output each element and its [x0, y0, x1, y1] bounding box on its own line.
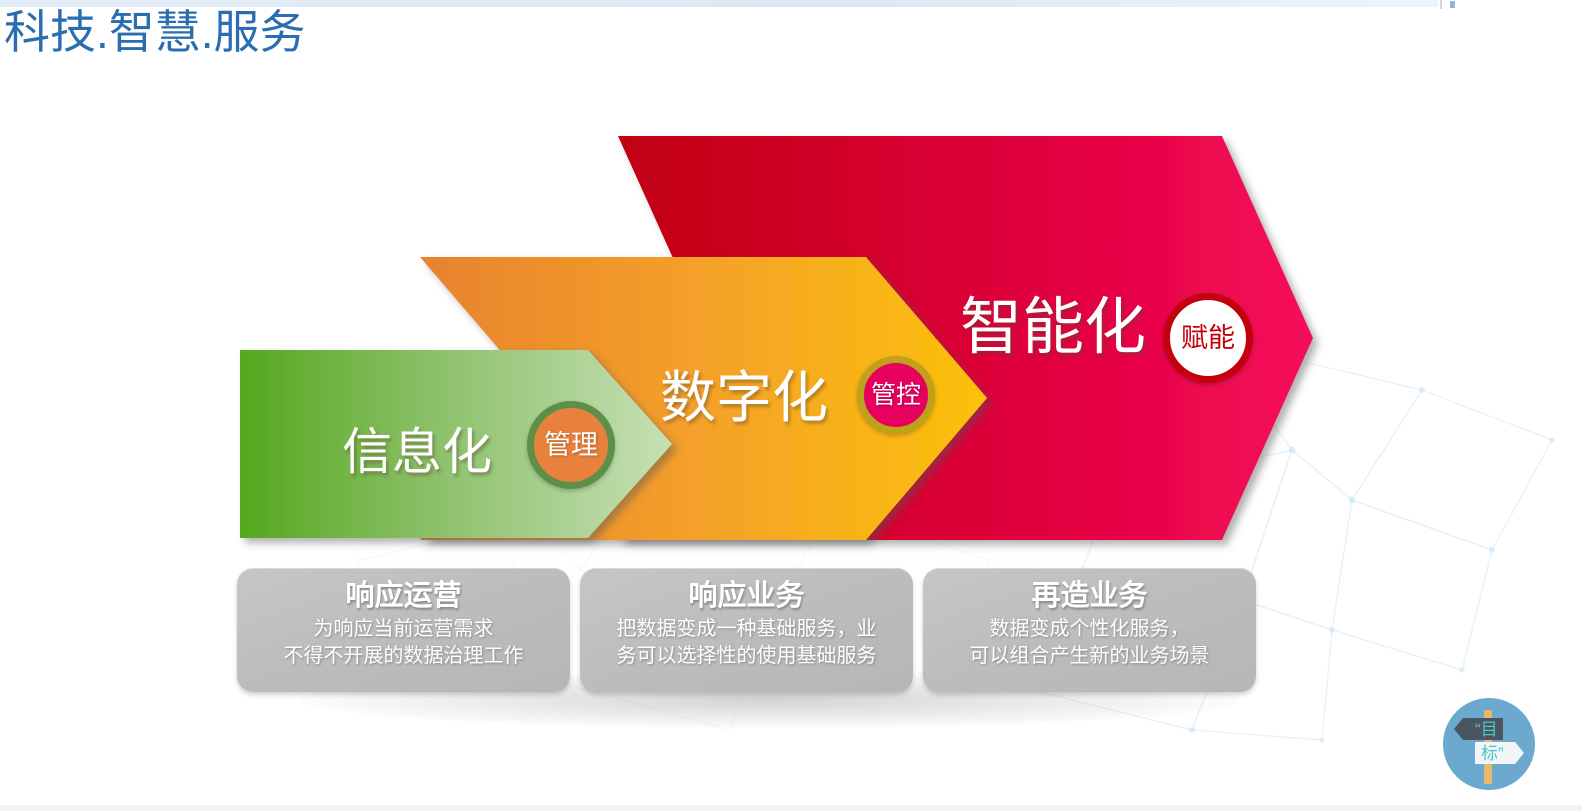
badge-empower-label: 赋能 [1181, 325, 1235, 352]
card-title: 再造业务 [1031, 578, 1147, 614]
card-description-line2: 务可以选择性的使用基础服务 [617, 643, 877, 670]
chevron-label-intelligentization: 智能化 [960, 298, 1146, 358]
card-respond-operations[interactable]: 响应运营 为响应当前运营需求 不得不开展的数据治理工作 [237, 568, 570, 692]
card-row: 响应运营 为响应当前运营需求 不得不开展的数据治理工作 响应业务 把数据变成一种… [237, 568, 1257, 692]
card-respond-business[interactable]: 响应业务 把数据变成一种基础服务，业 务可以选择性的使用基础服务 [580, 568, 913, 692]
slide-canvas: 科技.智慧.服务 [0, 0, 1582, 811]
card-description: 把数据变成一种基础服务，业 务可以选择性的使用基础服务 [617, 616, 877, 670]
card-title: 响应运营 [345, 578, 461, 614]
page-title: 科技.智慧.服务 [4, 6, 306, 58]
badge-control-label: 管控 [871, 383, 921, 408]
signpost-goal-icon[interactable]: “目 标” [1437, 692, 1541, 796]
card-description-line1: 把数据变成一种基础服务，业 [617, 616, 877, 643]
card-description: 数据变成个性化服务， 可以组合产生新的业务场景 [970, 616, 1210, 670]
top-band-dot [1450, 1, 1455, 8]
card-reinvent-business[interactable]: 再造业务 数据变成个性化服务， 可以组合产生新的业务场景 [923, 568, 1256, 692]
signpost-left-text: “目 [1475, 720, 1498, 739]
badge-empower[interactable]: 赋能 [1163, 293, 1253, 383]
card-description-line2: 不得不开展的数据治理工作 [284, 643, 524, 670]
card-description-line1: 数据变成个性化服务， [970, 616, 1210, 643]
badge-manage-label: 管理 [544, 432, 598, 459]
card-description-line1: 为响应当前运营需求 [284, 616, 524, 643]
card-description: 为响应当前运营需求 不得不开展的数据治理工作 [284, 616, 524, 670]
card-title: 响应业务 [688, 578, 804, 614]
top-band-tick [1440, 0, 1442, 9]
badge-manage[interactable]: 管理 [527, 401, 615, 489]
bottom-strip [0, 805, 1582, 811]
card-description-line2: 可以组合产生新的业务场景 [970, 643, 1210, 670]
chevron-label-digitalization: 数字化 [660, 368, 828, 428]
badge-control[interactable]: 管控 [857, 356, 935, 434]
chevron-label-informatization: 信息化 [342, 422, 492, 482]
signpost-right-text: 标” [1481, 744, 1504, 763]
